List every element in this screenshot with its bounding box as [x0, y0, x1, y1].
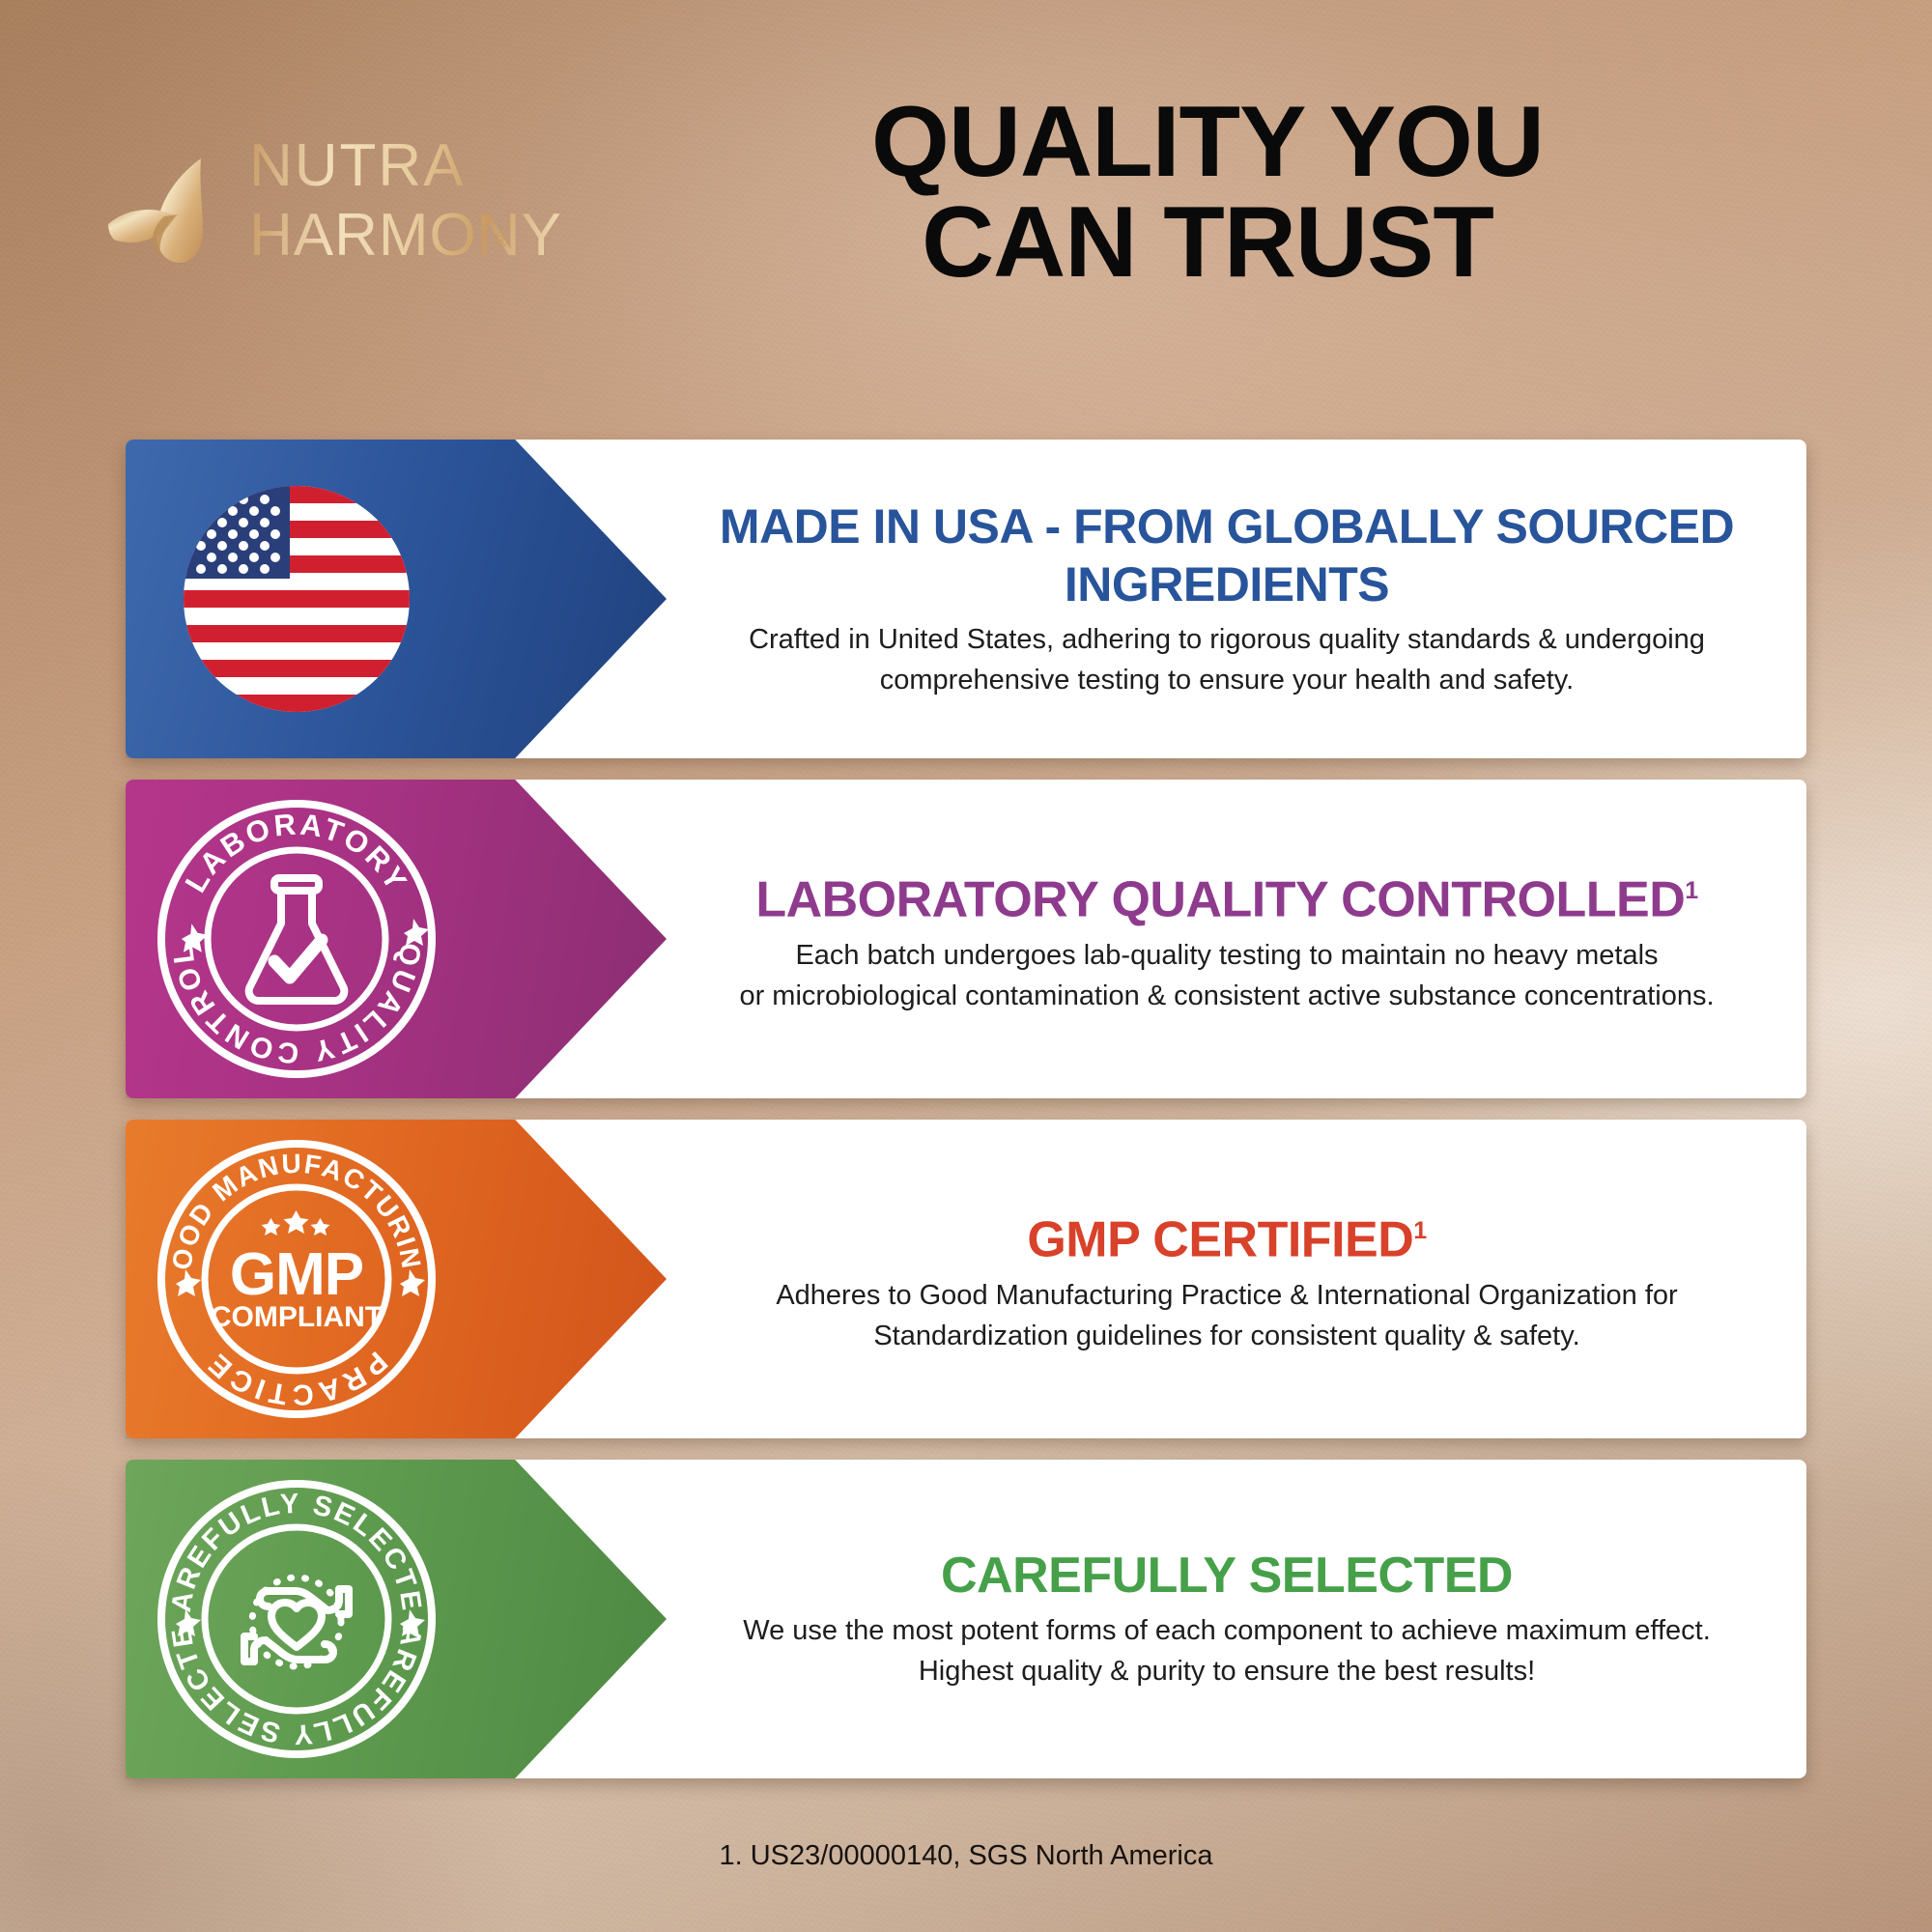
card-body: Adheres to Good Manufacturing Practice &…: [776, 1275, 1677, 1356]
gmp-compliant-seal-icon: GOOD MANUFACTURING PRACTICE GMP COMPLIAN…: [155, 1137, 439, 1421]
page-title-line1: QUALITY YOU: [871, 86, 1544, 198]
card-heading: MADE IN USA - FROM GLOBALLY SOURCED INGR…: [688, 497, 1766, 613]
usa-flag-circle-icon: [155, 457, 439, 741]
laboratory-flask-seal-icon: LABORATORY QUALITY CONTROL: [155, 797, 439, 1081]
feature-card-carefully-selected: CAREFULLY SELECTED CAREFULLY SELECTED: [0, 1460, 1932, 1778]
card-content: CAREFULLY SELECTED We use the most poten…: [667, 1460, 1787, 1778]
card-heading-text: LABORATORY QUALITY CONTROLLED: [755, 872, 1685, 928]
hands-heart-seal-icon: CAREFULLY SELECTED CAREFULLY SELECTED: [155, 1477, 439, 1761]
leaf-icon: [106, 153, 251, 278]
svg-text:COMPLIANT: COMPLIANT: [211, 1301, 383, 1333]
card-body-line2: or microbiological contamination & consi…: [739, 976, 1714, 1016]
brand-name-line2: HARMONY: [249, 201, 655, 270]
card-heading: GMP CERTIFIED1: [1027, 1202, 1426, 1268]
brand-name-line1: NUTRA: [249, 131, 655, 201]
header: NUTRA HARMONY ® QUALITY YOU CAN TRUST: [0, 0, 1932, 348]
card-heading-footnote-marker: 1: [1413, 1217, 1426, 1244]
card-heading-footnote-marker: 1: [1685, 877, 1697, 904]
registered-trademark-mark: ®: [493, 228, 508, 253]
card-body: Crafted in United States, adhering to ri…: [749, 619, 1705, 700]
card-body-line2: comprehensive testing to ensure your hea…: [749, 660, 1705, 700]
feature-card-laboratory-quality-controlled: LABORATORY QUALITY CONTROL LABORATORY QU…: [0, 780, 1932, 1098]
card-body: We use the most potent forms of each com…: [743, 1610, 1711, 1691]
feature-card-gmp-certified: GOOD MANUFACTURING PRACTICE GMP COMPLIAN…: [0, 1120, 1932, 1438]
page-title-line2: CAN TRUST: [792, 192, 1623, 293]
svg-text:GMP: GMP: [230, 1241, 363, 1308]
card-content: LABORATORY QUALITY CONTROLLED1 Each batc…: [667, 780, 1787, 1098]
brand-logo: NUTRA HARMONY ®: [106, 135, 647, 299]
card-content: MADE IN USA - FROM GLOBALLY SOURCED INGR…: [667, 440, 1787, 758]
feature-card-made-in-usa: MADE IN USA - FROM GLOBALLY SOURCED INGR…: [0, 440, 1932, 758]
page-title: QUALITY YOU CAN TRUST: [792, 92, 1623, 293]
card-body-line2: Highest quality & purity to ensure the b…: [743, 1651, 1711, 1691]
card-heading: LABORATORY QUALITY CONTROLLED1: [755, 862, 1697, 928]
card-body-line1: We use the most potent forms of each com…: [743, 1610, 1711, 1651]
feature-card-list: MADE IN USA - FROM GLOBALLY SOURCED INGR…: [0, 440, 1932, 1800]
card-heading-text: GMP CERTIFIED: [1027, 1212, 1413, 1268]
card-body-line2: Standardization guidelines for consisten…: [776, 1316, 1677, 1356]
svg-text:PRACTICE: PRACTICE: [200, 1345, 393, 1410]
card-body-line1: Crafted in United States, adhering to ri…: [749, 619, 1705, 660]
card-content: GMP CERTIFIED1 Adheres to Good Manufactu…: [667, 1120, 1787, 1438]
card-heading: CAREFULLY SELECTED: [941, 1547, 1513, 1605]
footnote: 1. US23/00000140, SGS North America: [0, 1840, 1932, 1872]
card-body-line1: Each batch undergoes lab-quality testing…: [739, 935, 1714, 976]
card-body: Each batch undergoes lab-quality testing…: [739, 935, 1714, 1016]
card-body-line1: Adheres to Good Manufacturing Practice &…: [776, 1275, 1677, 1316]
